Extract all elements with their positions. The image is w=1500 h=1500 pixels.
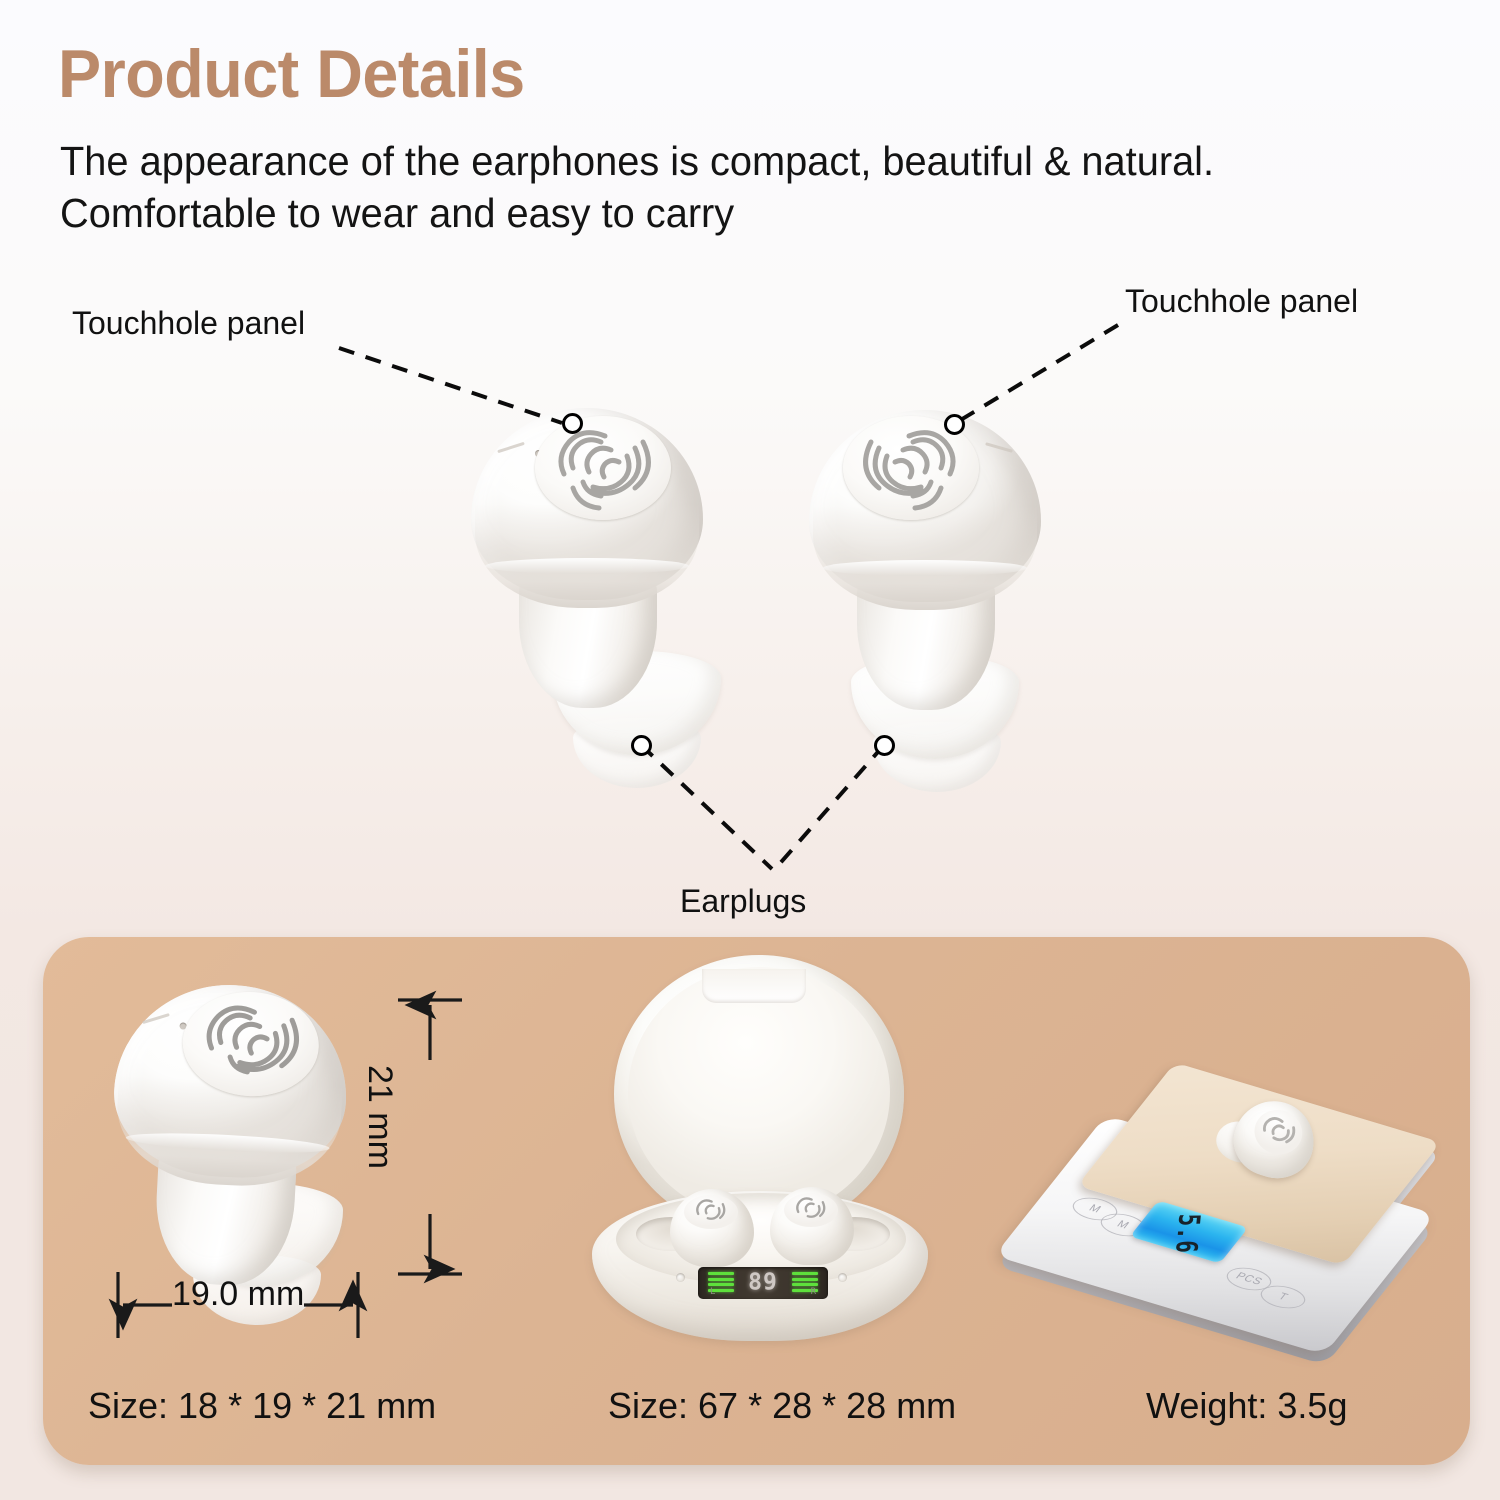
callout-dot-left-touchhole [562,413,583,434]
subtitle-line-2: Comfortable to wear and easy to carry [60,187,1437,239]
fingerprint-icon-case-right [784,1193,838,1227]
dimension-height-label: 21 mm [360,1065,399,1169]
charging-case-lid-notch [702,969,806,1003]
page-title: Product Details [58,40,525,108]
callout-dot-right-touchhole [944,414,965,435]
fingerprint-icon-panel [180,989,321,1100]
charging-case-touchpanel-right [784,1193,838,1227]
earbud-seam-right [823,560,1027,576]
fingerprint-icon-case-left [684,1195,738,1229]
digital-scale: M M PCS T 5.6 [1040,1085,1430,1335]
charging-case-display: L R 89 [698,1267,828,1299]
caption-earbud-size: Size: 18 * 19 * 21 mm [88,1385,436,1427]
caption-earbud-weight: Weight: 3.5g [1146,1385,1347,1427]
charging-case: L R 89 [592,955,952,1355]
charging-case-touchpanel-left [684,1195,738,1229]
panel-touchhole-panel[interactable] [180,989,321,1100]
subtitle-line-1: The appearance of the earphones is compa… [60,135,1437,187]
callout-label-earplugs: Earplugs [680,883,806,920]
dimension-width-label: 19.0 mm [172,1275,304,1314]
charging-case-led-right [838,1273,847,1282]
leader-line-earplug-right [775,745,884,869]
earbud-seam-left [485,558,689,574]
battery-label-left: L [710,1287,715,1297]
charging-case-battery-percent: 89 [748,1269,778,1295]
charging-case-earbud-right [770,1187,854,1265]
page-subtitle: The appearance of the earphones is compa… [60,135,1437,240]
panel-earbud [104,979,351,1291]
callout-label-right-touchhole: Touchhole panel [1125,283,1358,320]
touchhole-panel-left[interactable] [535,416,671,520]
charging-case-lid-inner [628,967,890,1219]
battery-label-right: R [811,1287,816,1297]
charging-case-led-left [676,1273,685,1282]
earbud-head-shading-right [813,506,1037,610]
product-details-page: Product Details The appearance of the ea… [0,0,1500,1500]
charging-case-earbud-left [670,1189,754,1267]
callout-dot-earplug-left [631,735,652,756]
fingerprint-icon-left [535,416,671,520]
callout-label-left-touchhole: Touchhole panel [72,305,305,342]
earbud-right [809,410,1041,710]
caption-case-size: Size: 67 * 28 * 28 mm [608,1385,956,1427]
earbud-left [471,408,703,708]
callout-dot-earplug-right [874,735,895,756]
scale-weight-value: 5.6 [1169,1213,1207,1253]
